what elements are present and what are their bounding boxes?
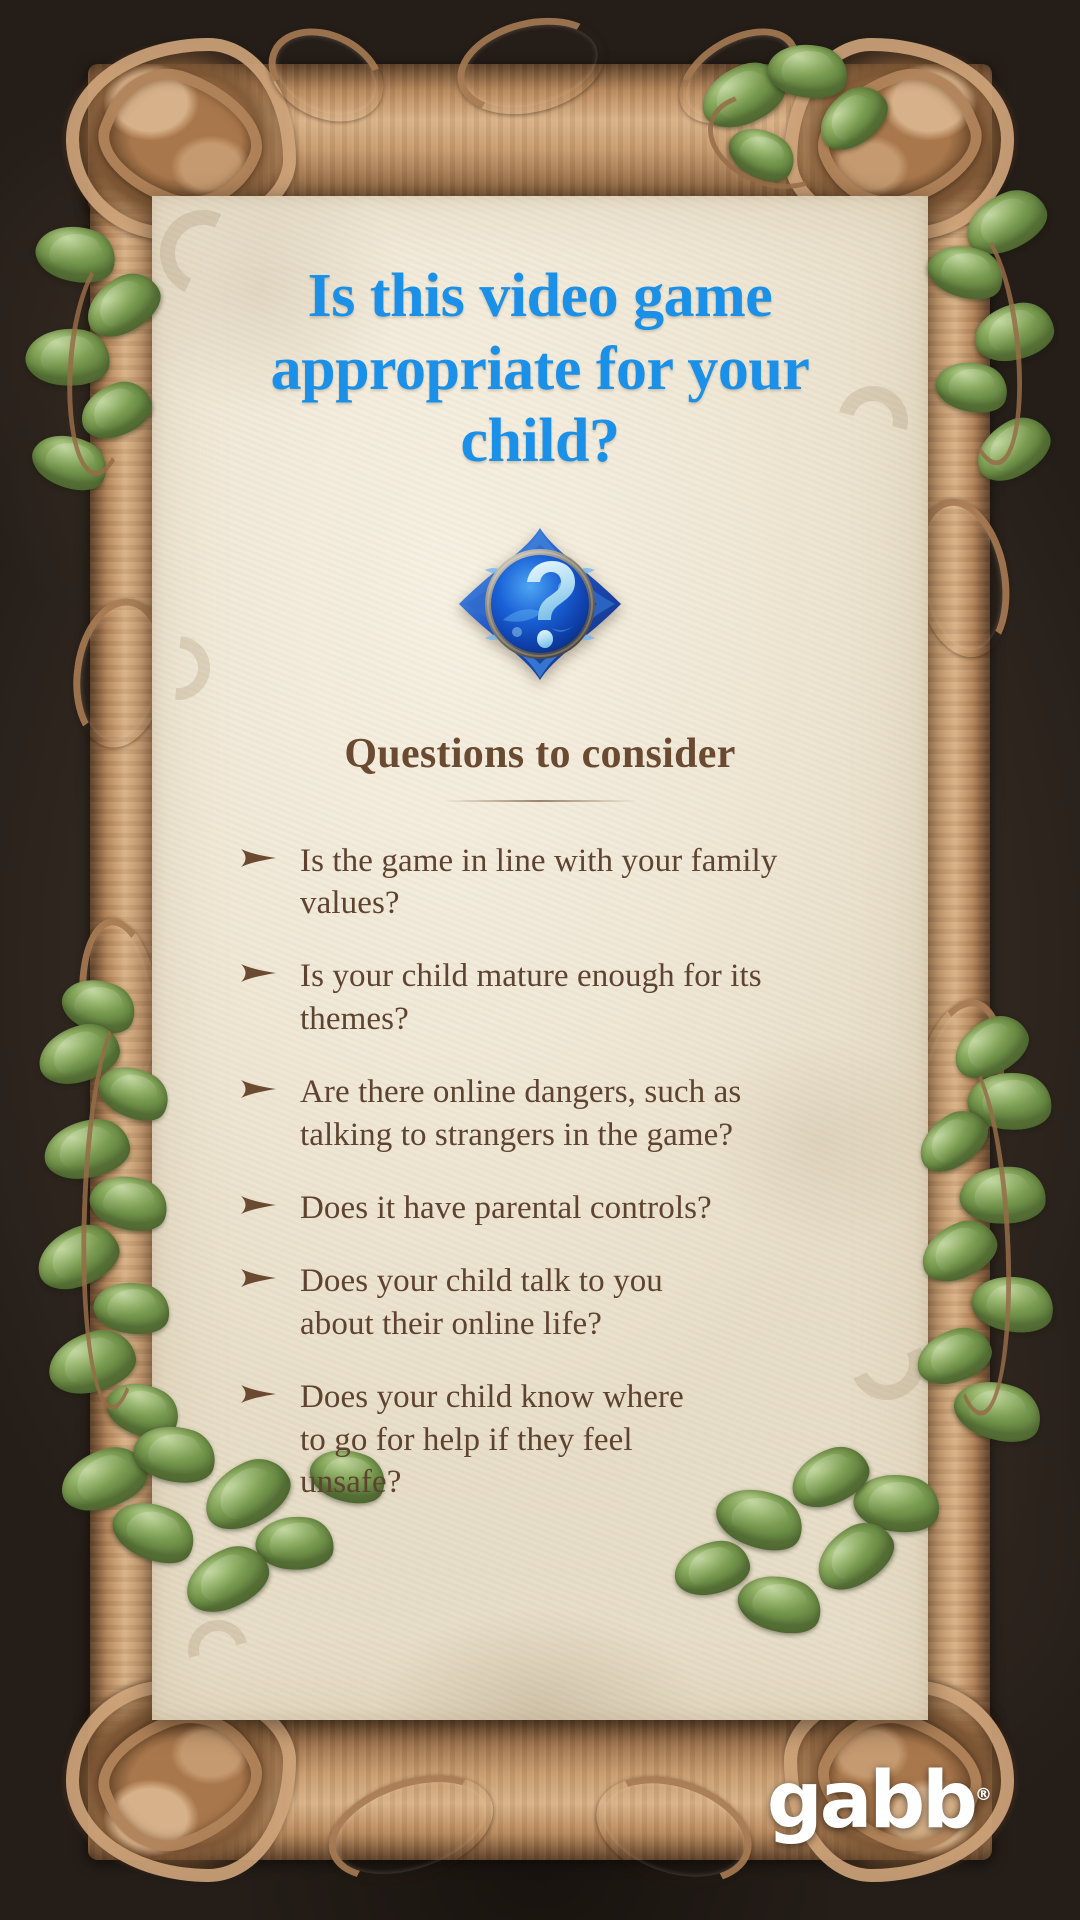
list-item: Are there online dangers, such as talkin… [240, 1071, 872, 1157]
section-heading: Questions to consider [208, 730, 872, 778]
emblem-container [208, 524, 872, 684]
arrow-bullet-icon [240, 1071, 280, 1157]
list-item: Does your child know where to go for hel… [240, 1376, 872, 1505]
arrow-bullet-icon [240, 1376, 280, 1505]
list-item: Is your child mature enough for its them… [240, 955, 872, 1041]
question-mark-gem-emblem [455, 524, 625, 684]
question-text: Is the game in line with your family val… [300, 840, 800, 926]
question-text: Does your child talk to you about their … [300, 1260, 740, 1346]
question-text: Does your child know where to go for hel… [300, 1376, 700, 1505]
poster-content: Is this video game appropriate for your … [152, 196, 928, 1720]
arrow-bullet-icon [240, 1260, 280, 1346]
questions-list: Is the game in line with your family val… [240, 840, 872, 1505]
question-text: Are there online dangers, such as talkin… [300, 1071, 820, 1157]
page-title: Is this video game appropriate for your … [208, 260, 872, 478]
list-item: Is the game in line with your family val… [240, 840, 872, 926]
registered-trademark-icon: ® [975, 1785, 992, 1805]
arrow-bullet-icon [240, 840, 280, 926]
list-item: Does it have parental controls? [240, 1187, 872, 1230]
arrow-bullet-icon [240, 955, 280, 1041]
question-text: Is your child mature enough for its them… [300, 955, 800, 1041]
gabb-logo-text: gabb [767, 1756, 975, 1846]
heading-divider [442, 800, 638, 802]
question-text: Does it have parental controls? [300, 1187, 712, 1230]
parchment-panel: Is this video game appropriate for your … [152, 196, 928, 1720]
arrow-bullet-icon [240, 1187, 280, 1230]
list-item: Does your child talk to you about their … [240, 1260, 872, 1346]
gabb-logo: gabb® [767, 1756, 992, 1846]
